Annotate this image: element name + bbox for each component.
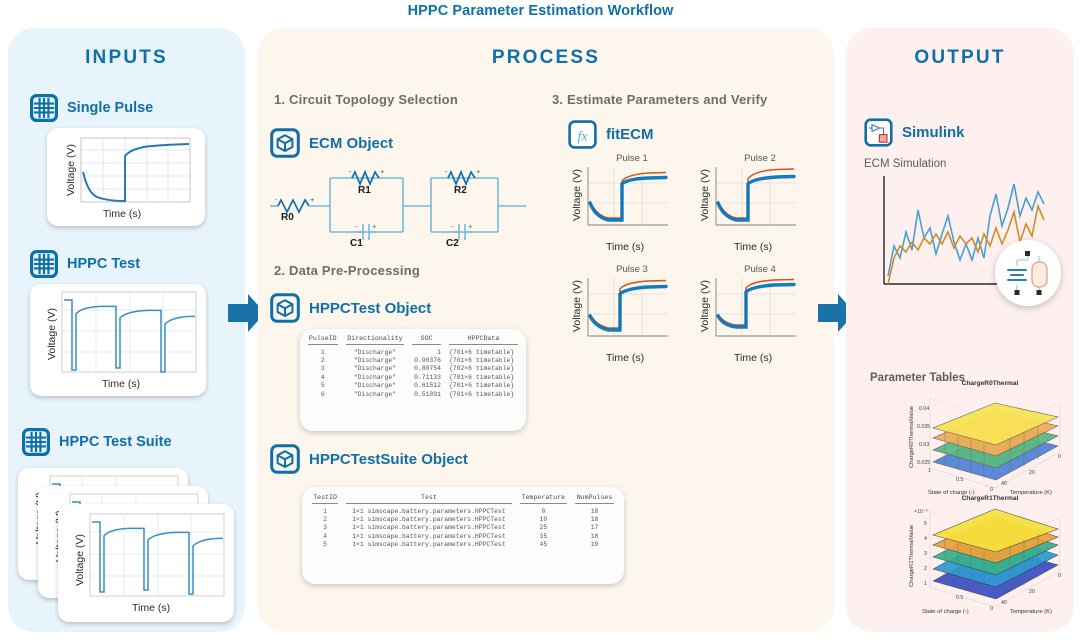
cell-soc: 0.71133 xyxy=(408,373,445,381)
surface-1-xtick-0: 1 xyxy=(928,468,931,474)
surface-2-ytick-1: 20 xyxy=(1029,589,1035,595)
svg-text:-: - xyxy=(275,195,278,204)
input-label-hppc-test: HPPC Test xyxy=(67,256,140,272)
svg-text:-: - xyxy=(445,167,448,176)
pulse-plot-2: Pulse 2 Time (s) Voltage (V) xyxy=(684,153,802,244)
output-item-simulink[interactable]: Simulink xyxy=(864,118,965,147)
cell-numpulses: 17 xyxy=(571,524,618,532)
surface-1-xtick-1: 0.5 xyxy=(956,477,963,483)
table-row: 5 1×1 simscape.battery.parameters.HPPCTe… xyxy=(308,541,618,549)
cell-directionality: "Discharge" xyxy=(342,348,409,356)
cell-temperature: 35 xyxy=(516,532,571,540)
pulse-plot-3: Pulse 3 Time (s) Voltage (V) xyxy=(556,264,674,355)
surface-2-ytick-2: 40 xyxy=(1001,600,1007,606)
input-label-single-pulse: Single Pulse xyxy=(67,100,153,116)
hppc-suite-chart-card-front: Time (s) Voltage (V) xyxy=(58,504,234,622)
surface-2-xtick-2: 0 xyxy=(990,606,993,612)
process-object-fitecm[interactable]: fx fitECM xyxy=(568,120,654,149)
pulse-1-ylabel: Voltage (V) xyxy=(571,169,583,221)
pulse-3-xlabel: Time (s) xyxy=(606,352,644,364)
col-directionality: Directionality xyxy=(342,335,409,343)
simscape-model-inset xyxy=(995,240,1061,306)
surface-2-ztick-4: 1 xyxy=(924,581,927,587)
cell-directionality: "Discharge" xyxy=(342,356,409,364)
cell-test: 1×1 simscape.battery.parameters.HPPCTest xyxy=(342,507,516,515)
surface-1-ztick-3: 0.025 xyxy=(917,460,930,466)
surface-2-ztick-0: 5 xyxy=(924,521,927,527)
surface-2-zexp: ×10⁻³ xyxy=(914,509,928,515)
cell-directionality: "Discharge" xyxy=(342,390,409,398)
pulse-1-title: Pulse 1 xyxy=(592,153,672,164)
pulse-3-ylabel: Voltage (V) xyxy=(571,280,583,332)
pulse-3-title: Pulse 3 xyxy=(592,264,672,275)
simulink-block-icon xyxy=(864,118,893,147)
cell-pulseid: 1 xyxy=(304,348,342,356)
surface-2-ztick-1: 4 xyxy=(924,536,927,542)
cell-soc: 0.61512 xyxy=(408,382,445,390)
surface-1-ztick-1: 0.035 xyxy=(917,424,930,430)
hppc-suite-ylabel-front: Voltage (V) xyxy=(74,534,86,586)
cell-numpulses: 18 xyxy=(571,532,618,540)
cell-numpulses: 18 xyxy=(571,515,618,523)
svg-text:R0: R0 xyxy=(281,212,294,223)
cell-directionality: "Discharge" xyxy=(342,365,409,373)
cell-pulseid: 4 xyxy=(304,373,342,381)
surface-1-ytick-0: 0 xyxy=(1058,454,1061,460)
surface-plot-chargeR0Thermal: ChargeR0Thermal Ch xyxy=(900,380,1075,500)
pulse-4-ylabel: Voltage (V) xyxy=(699,280,711,332)
table-row: 1 "Discharge" 1 {701×6 timetable} xyxy=(304,348,522,356)
surface-2-ylabel: Temperature (K) xyxy=(1010,609,1052,615)
surface-1-ztick-2: 0.03 xyxy=(919,442,929,448)
cell-temperature: 0 xyxy=(516,507,571,515)
hppc-suite-xlabel: Time (s) xyxy=(132,602,170,614)
input-label-hppc-test-suite: HPPC Test Suite xyxy=(59,434,172,450)
input-item-single-pulse[interactable]: Single Pulse xyxy=(30,94,153,122)
single-pulse-chart-card: Time (s) Voltage (V) xyxy=(47,128,205,226)
cell-test: 1×1 simscape.battery.parameters.HPPCTest xyxy=(342,532,516,540)
grid-table-icon xyxy=(30,94,58,122)
surface-1-zlabel: ChargeR0ThermalValue xyxy=(909,406,915,468)
output-heading: OUTPUT xyxy=(846,47,1074,69)
table-header-row: PulseID Directionality SOC HPPCData xyxy=(304,335,522,343)
cell-pulseid: 6 xyxy=(304,390,342,398)
table-row: 2 "Discharge" 0.90376 {701×6 timetable} xyxy=(304,356,522,364)
svg-text:-: - xyxy=(349,167,352,176)
svg-text:+: + xyxy=(476,167,481,176)
col-testid: TestID xyxy=(308,494,342,502)
cell-directionality: "Discharge" xyxy=(342,382,409,390)
svg-text:+: + xyxy=(468,222,473,231)
step-2-heading: 2. Data Pre-Processing xyxy=(274,263,420,278)
surface-1-ztick-0: 0.04 xyxy=(919,406,929,412)
cell-testid: 2 xyxy=(308,515,342,523)
pulse-plot-1: Pulse 1 Time (s) Voltage (V) xyxy=(556,153,674,244)
cell-temperature: 10 xyxy=(516,515,571,523)
cell-temperature: 45 xyxy=(516,541,571,549)
col-hppcdata: HPPCData xyxy=(445,335,522,343)
col-numpulses: NumPulses xyxy=(571,494,618,502)
surface-plot-chargeR1Thermal: ChargeR1Thermal ChargeR1ThermalValue ×10… xyxy=(900,495,1075,620)
cell-pulseid: 3 xyxy=(304,365,342,373)
pulse-1-xlabel: Time (s) xyxy=(606,241,644,253)
ecm-circuit-diagram: -+ -+ -+ -+ -+ R0 R1 C1 R2 C2 xyxy=(268,160,528,245)
svg-text:fx: fx xyxy=(577,130,588,145)
hppctest-table-card: PulseID Directionality SOC HPPCData 1 "D… xyxy=(300,329,526,431)
hppc-test-xlabel: Time (s) xyxy=(102,378,140,390)
cell-testid: 3 xyxy=(308,524,342,532)
svg-text:-: - xyxy=(451,222,454,231)
single-pulse-xlabel: Time (s) xyxy=(103,208,141,220)
process-object-ecm[interactable]: ECM Object xyxy=(270,128,393,158)
input-item-hppc-test-suite[interactable]: HPPC Test Suite xyxy=(22,428,172,456)
surface-2-zlabel: ChargeR1ThermalValue xyxy=(909,525,915,587)
surface-1-xtick-2: 0 xyxy=(990,487,993,493)
cell-test: 1×1 simscape.battery.parameters.HPPCTest xyxy=(342,524,516,532)
cell-pulseid: 2 xyxy=(304,356,342,364)
table-row: 4 "Discharge" 0.71133 {701×6 timetable} xyxy=(304,373,522,381)
cell-testid: 1 xyxy=(308,507,342,515)
table-header-row: TestID Test Temperature NumPulses xyxy=(308,494,618,502)
step-1-heading: 1. Circuit Topology Selection xyxy=(274,92,458,107)
hppc-test-chart-card: Time (s) Voltage (V) xyxy=(30,284,206,396)
svg-text:-: - xyxy=(355,222,358,231)
pulse-2-xlabel: Time (s) xyxy=(734,241,772,253)
cell-hppcdata: {701×6 timetable} xyxy=(445,390,522,398)
hppctestsuite-table: TestID Test Temperature NumPulses 1 1×1 … xyxy=(308,494,618,549)
cube-object-icon xyxy=(270,128,300,158)
col-test: Test xyxy=(342,494,516,502)
cell-testid: 4 xyxy=(308,532,342,540)
cell-test: 1×1 simscape.battery.parameters.HPPCTest xyxy=(342,541,516,549)
cell-soc: 0.80754 xyxy=(408,365,445,373)
cell-temperature: 25 xyxy=(516,524,571,532)
cell-directionality: "Discharge" xyxy=(342,373,409,381)
inputs-heading: INPUTS xyxy=(8,47,245,69)
ecm-simulation-label: ECM Simulation xyxy=(864,158,946,170)
table-row: 4 1×1 simscape.battery.parameters.HPPCTe… xyxy=(308,532,618,540)
surface-1-ytick-1: 20 xyxy=(1029,470,1035,476)
process-object-label-hppctest: HPPCTest Object xyxy=(309,300,431,317)
cube-object-icon xyxy=(270,293,300,323)
input-item-hppc-test[interactable]: HPPC Test xyxy=(30,250,140,278)
pulse-plot-4: Pulse 4 Time (s) Voltage (V) xyxy=(684,264,802,355)
svg-text:R2: R2 xyxy=(454,185,467,196)
table-row: 3 1×1 simscape.battery.parameters.HPPCTe… xyxy=(308,524,618,532)
process-object-label-fitecm: fitECM xyxy=(606,126,654,143)
hppctest-table: PulseID Directionality SOC HPPCData 1 "D… xyxy=(304,335,522,398)
surface-2-xlabel: State of charge (-) xyxy=(922,609,969,615)
surface-2-title: ChargeR1Thermal xyxy=(930,495,1050,502)
cell-hppcdata: {701×6 timetable} xyxy=(445,348,522,356)
grid-table-icon xyxy=(30,250,58,278)
cell-testid: 5 xyxy=(308,541,342,549)
cell-soc: 0.51891 xyxy=(408,390,445,398)
process-object-label-hppctestsuite: HPPCTestSuite Object xyxy=(309,451,468,468)
table-row: 2 1×1 simscape.battery.parameters.HPPCTe… xyxy=(308,515,618,523)
process-object-label-ecm: ECM Object xyxy=(309,135,393,152)
hppc-test-ylabel: Voltage (V) xyxy=(46,308,58,360)
surface-1-ytick-2: 40 xyxy=(1001,481,1007,487)
cell-soc: 0.90376 xyxy=(408,356,445,364)
cell-hppcdata: {701×6 timetable} xyxy=(445,356,522,364)
surface-2-ztick-2: 3 xyxy=(924,551,927,557)
page-title: HPPC Parameter Estimation Workflow xyxy=(0,3,1081,19)
table-row: 3 "Discharge" 0.80754 {702×6 timetable} xyxy=(304,365,522,373)
workflow-diagram: HPPC Parameter Estimation Workflow INPUT… xyxy=(0,0,1081,640)
output-label-simulink: Simulink xyxy=(902,124,965,141)
cell-hppcdata: {701×6 timetable} xyxy=(445,382,522,390)
process-object-hppctest[interactable]: HPPCTest Object xyxy=(270,293,431,323)
pulse-4-xlabel: Time (s) xyxy=(734,352,772,364)
svg-text:+: + xyxy=(380,167,385,176)
cell-numpulses: 19 xyxy=(571,541,618,549)
table-row: 6 "Discharge" 0.51891 {701×6 timetable} xyxy=(304,390,522,398)
svg-text:+: + xyxy=(372,222,377,231)
process-heading: PROCESS xyxy=(258,47,834,69)
table-row: 5 "Discharge" 0.61512 {701×6 timetable} xyxy=(304,382,522,390)
single-pulse-ylabel: Voltage (V) xyxy=(65,144,77,196)
pulse-2-ylabel: Voltage (V) xyxy=(699,169,711,221)
col-pulseid: PulseID xyxy=(304,335,342,343)
pulse-2-title: Pulse 2 xyxy=(720,153,800,164)
cell-pulseid: 5 xyxy=(304,382,342,390)
surface-2-ztick-3: 2 xyxy=(924,566,927,572)
pulse-4-title: Pulse 4 xyxy=(720,264,800,275)
col-temperature: Temperature xyxy=(516,494,571,502)
hppctestsuite-table-card: TestID Test Temperature NumPulses 1 1×1 … xyxy=(302,487,624,584)
cell-hppcdata: {702×6 timetable} xyxy=(445,365,522,373)
cube-object-icon xyxy=(270,444,300,474)
cell-test: 1×1 simscape.battery.parameters.HPPCTest xyxy=(342,515,516,523)
svg-text:R1: R1 xyxy=(358,185,371,196)
surface-2-ytick-0: 0 xyxy=(1058,573,1061,579)
col-soc: SOC xyxy=(408,335,445,343)
surface-2-xtick-1: 0.5 xyxy=(956,595,963,601)
table-row: 1 1×1 simscape.battery.parameters.HPPCTe… xyxy=(308,507,618,515)
process-object-hppctestsuite[interactable]: HPPCTestSuite Object xyxy=(270,444,468,474)
cell-hppcdata: {701×6 timetable} xyxy=(445,373,522,381)
grid-table-icon xyxy=(22,428,50,456)
svg-text:+: + xyxy=(310,195,315,204)
fx-function-icon: fx xyxy=(568,120,597,149)
step-3-heading: 3. Estimate Parameters and Verify xyxy=(552,92,767,107)
cell-numpulses: 18 xyxy=(571,507,618,515)
surface-1-title: ChargeR0Thermal xyxy=(930,380,1050,387)
cell-soc: 1 xyxy=(408,348,445,356)
